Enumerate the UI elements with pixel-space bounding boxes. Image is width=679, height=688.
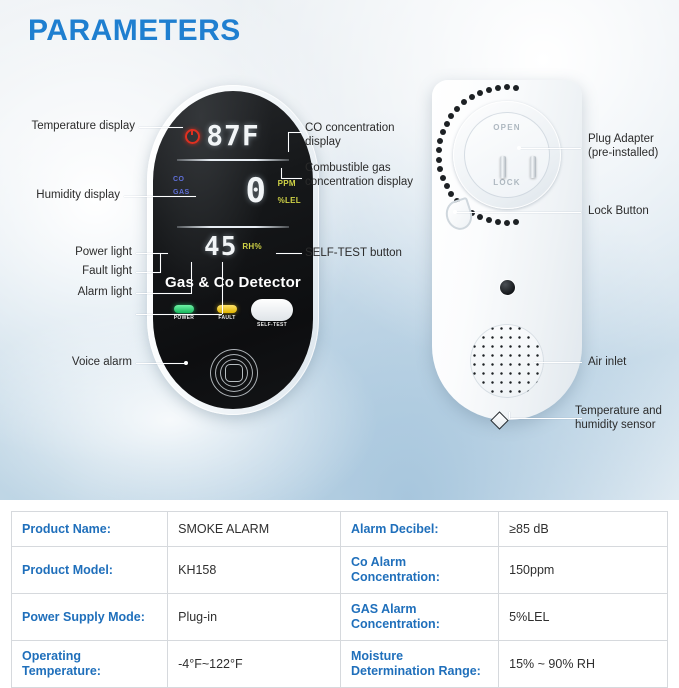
vent-dot xyxy=(486,87,492,93)
vent-dot xyxy=(437,138,443,144)
spec-key: Moisture Determination Range: xyxy=(340,641,498,688)
vent-dot xyxy=(477,214,483,220)
vent-dot xyxy=(448,191,454,197)
device-back-view: OPEN LOCK xyxy=(432,80,582,420)
leader-endpoint xyxy=(453,210,457,214)
vent-dot xyxy=(437,166,443,172)
leader-line xyxy=(191,262,192,294)
vent-dot xyxy=(444,121,450,127)
vent-dot xyxy=(513,219,519,225)
gas-tag: GAS xyxy=(173,186,190,199)
leader-line xyxy=(288,132,302,133)
spec-value: Plug-in xyxy=(168,594,341,641)
spec-value: 5%LEL xyxy=(499,594,668,641)
callout-selftest-button: SELF-TEST button xyxy=(305,247,425,261)
callout-fault-light: Fault light xyxy=(0,265,132,279)
leader-line xyxy=(136,253,168,254)
leader-line xyxy=(455,212,581,213)
vent-dot xyxy=(495,85,501,91)
humidity-row: 45RH% xyxy=(153,231,313,265)
table-row: Product Model:KH158Co Alarm Concentratio… xyxy=(12,547,668,594)
temperature-value: 87F xyxy=(206,119,260,152)
spec-value: -4°F~122°F xyxy=(168,641,341,688)
temperature-row: 87F xyxy=(153,117,313,157)
spec-value: KH158 xyxy=(168,547,341,594)
self-test-button[interactable] xyxy=(251,299,293,321)
screen-divider-2 xyxy=(177,226,289,228)
vent-dot xyxy=(436,147,442,153)
leader-line xyxy=(136,272,160,273)
speaker-arc xyxy=(200,339,268,407)
vent-dot xyxy=(440,129,446,135)
gas-row: CO GAS 0 PPM %LEL xyxy=(153,165,313,223)
vent-dot xyxy=(444,183,450,189)
callout-power-light: Power light xyxy=(0,246,132,260)
callout-plug-adapter: Plug Adapter (pre-installed) xyxy=(588,133,679,160)
leader-line xyxy=(160,253,161,273)
vent-dot xyxy=(461,99,467,105)
fault-led-cell: FAULT xyxy=(210,305,244,321)
power-led-label: POWER xyxy=(167,315,201,321)
specification-table: Product Name:SMOKE ALARMAlarm Decibel:≥8… xyxy=(11,511,668,688)
plug-prong-right xyxy=(530,156,536,178)
leader-endpoint xyxy=(184,361,188,365)
fault-led-label: FAULT xyxy=(210,315,244,321)
fault-led-icon xyxy=(217,305,237,313)
callout-combustible-gas: Combustible gas concentration display xyxy=(305,162,430,189)
callout-humidity-display: Humidity display xyxy=(0,189,120,203)
vent-dot xyxy=(486,217,492,223)
page-title: PARAMETERS xyxy=(28,14,241,48)
callout-temp-humidity-sensor: Temperature and humidity sensor xyxy=(575,405,679,432)
humidity-value: 45 xyxy=(204,232,237,262)
vent-dot xyxy=(513,85,519,91)
leader-line xyxy=(281,168,282,178)
callout-alarm-light: Alarm light xyxy=(0,286,132,300)
spec-key: Power Supply Mode: xyxy=(12,594,168,641)
dial-open-label: OPEN xyxy=(464,123,550,132)
gas-value: 0 xyxy=(246,167,267,215)
leader-line xyxy=(534,362,582,363)
leader-line xyxy=(222,262,223,314)
spec-key: Alarm Decibel: xyxy=(340,512,498,547)
gas-unit-labels: PPM %LEL xyxy=(278,175,301,209)
screen-divider-1 xyxy=(177,159,289,161)
leader-endpoint xyxy=(517,146,521,150)
leader-line xyxy=(509,418,582,419)
leader-line xyxy=(136,314,222,315)
power-led-cell: POWER xyxy=(167,305,201,321)
spec-key: GAS Alarm Concentration: xyxy=(340,594,498,641)
lel-unit: %LEL xyxy=(278,192,301,209)
spec-key: Co Alarm Concentration: xyxy=(340,547,498,594)
power-led-icon xyxy=(174,305,194,313)
leader-line xyxy=(288,132,289,152)
spec-key: Product Model: xyxy=(12,547,168,594)
leader-line xyxy=(276,253,302,254)
vent-dot xyxy=(477,90,483,96)
spec-value: SMOKE ALARM xyxy=(168,512,341,547)
device-brand-name: Gas & Co Detector xyxy=(153,274,313,291)
leader-line xyxy=(519,148,581,149)
plug-adapter-face: OPEN LOCK xyxy=(464,112,550,198)
table-row: Product Name:SMOKE ALARMAlarm Decibel:≥8… xyxy=(12,512,668,547)
power-icon xyxy=(185,129,200,144)
plug-prong-left xyxy=(500,156,506,178)
spec-value: 15% ~ 90% RH xyxy=(499,641,668,688)
spec-key: Product Name: xyxy=(12,512,168,547)
leader-line xyxy=(281,178,302,179)
leader-line xyxy=(509,412,510,419)
spec-value: ≥85 dB xyxy=(499,512,668,547)
temperature-humidity-sensor-icon xyxy=(490,411,508,429)
lcd-screen: 87F CO GAS 0 PPM %LEL 45RH% Gas & Co Det… xyxy=(153,91,313,409)
vent-dot xyxy=(504,220,510,226)
vent-dot xyxy=(436,157,442,163)
callout-lock-button: Lock Button xyxy=(588,205,679,219)
leader-line xyxy=(139,127,183,128)
vent-dot xyxy=(504,84,510,90)
callout-co-concentration: CO concentration display xyxy=(305,122,415,149)
callout-air-inlet: Air inlet xyxy=(588,356,679,370)
leader-line xyxy=(124,196,196,197)
vent-dot xyxy=(454,106,460,112)
vent-dot xyxy=(469,94,475,100)
vent-dot xyxy=(495,219,501,225)
table-row: Power Supply Mode:Plug-inGAS Alarm Conce… xyxy=(12,594,668,641)
vent-dot xyxy=(448,113,454,119)
voice-alarm-speaker-icon xyxy=(204,343,262,401)
vent-dot xyxy=(440,175,446,181)
humidity-unit: RH% xyxy=(242,242,262,251)
table-row: Operating Temperature:-4°F~122°FMoisture… xyxy=(12,641,668,688)
leader-line xyxy=(136,293,191,294)
air-inlet-grille xyxy=(470,324,544,398)
leader-line xyxy=(136,363,186,364)
spec-value: 150ppm xyxy=(499,547,668,594)
device-front-view: 87F CO GAS 0 PPM %LEL 45RH% Gas & Co Det… xyxy=(147,85,319,415)
spec-key: Operating Temperature: xyxy=(12,641,168,688)
dial-lock-label: LOCK xyxy=(464,178,550,187)
plug-adapter-dial[interactable]: OPEN LOCK xyxy=(453,101,561,209)
callout-voice-alarm: Voice alarm xyxy=(0,356,132,370)
callout-temperature-display: Temperature display xyxy=(0,120,135,134)
self-test-button-label: SELF-TEST xyxy=(251,322,293,328)
product-illustration-area: PARAMETERS 87F CO GAS 0 PPM %LEL xyxy=(0,0,679,500)
co-tag: CO xyxy=(173,173,190,186)
back-sensor-dot xyxy=(500,280,515,295)
